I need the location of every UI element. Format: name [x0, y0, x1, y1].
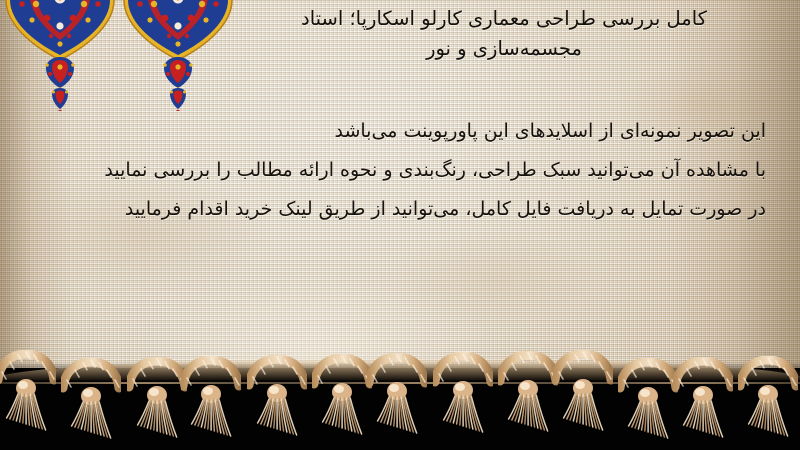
- black-band-gradient: [0, 362, 800, 382]
- body-line-3: در صورت تمایل به دریافت فایل کامل، می‌تو…: [26, 190, 766, 229]
- body-line-1: این تصویر نمونه‌ای از اسلایدهای این پاور…: [26, 112, 766, 151]
- slide-title: کامل بررسی طراحی معماری کارلو اسکارپا؛ ا…: [244, 4, 764, 64]
- slide-canvas: کامل بررسی طراحی معماری کارلو اسکارپا؛ ا…: [0, 0, 800, 450]
- slide-title-line-1: کامل بررسی طراحی معماری کارلو اسکارپا؛ ا…: [244, 4, 764, 34]
- slide-body: این تصویر نمونه‌ای از اسلایدهای این پاور…: [26, 112, 766, 229]
- slide-title-line-2: مجسمه‌سازی و نور: [244, 34, 764, 64]
- body-line-2: با مشاهده آن می‌توانید سبک طراحی، رنگ‌بن…: [26, 151, 766, 190]
